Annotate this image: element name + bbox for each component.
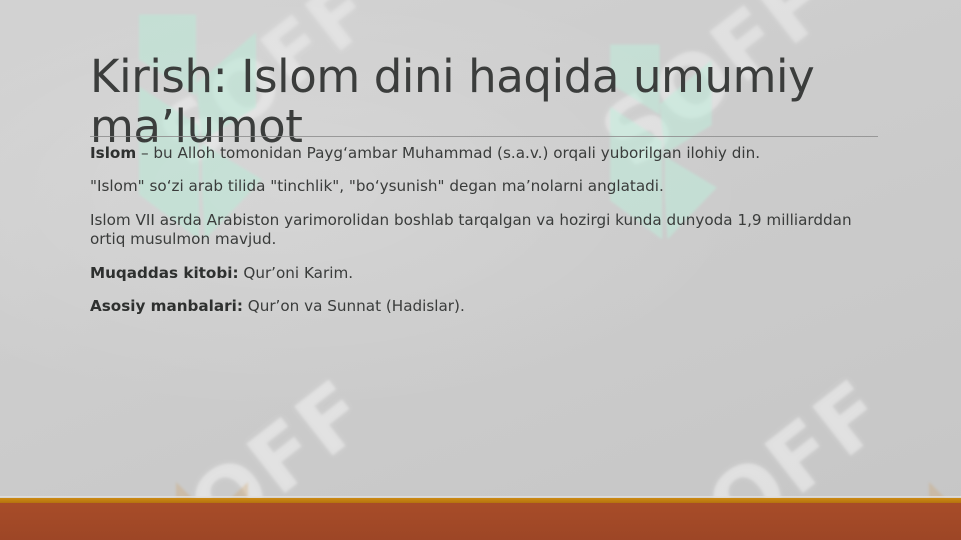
bottom-accent-bar xyxy=(0,498,961,540)
slide-body: Islom – bu Alloh tomonidan Payg‘ambar Mu… xyxy=(90,144,880,317)
paragraph-text: Qur’on va Sunnat (Hadislar). xyxy=(243,297,465,315)
paragraph-text: Qur’oni Karim. xyxy=(239,264,354,282)
paragraph-lead: Muqaddas kitobi: xyxy=(90,264,239,282)
slide-title: Kirish: Islom dini haqida umumiy ma’lumo… xyxy=(90,52,890,152)
paragraph-text: Islom VII asrda Arabiston yarimorolidan … xyxy=(90,211,852,248)
paragraph-lead: Islom xyxy=(90,144,136,162)
paragraph-lead: Asosiy manbalari: xyxy=(90,297,243,315)
body-paragraph-definition: Islom – bu Alloh tomonidan Payg‘ambar Mu… xyxy=(90,144,880,163)
paragraph-text: "Islom" so‘zi arab tilida "tinchlik", "b… xyxy=(90,177,664,195)
body-paragraph-holy-book: Muqaddas kitobi: Qur’oni Karim. xyxy=(90,264,880,283)
body-paragraph-history: Islom VII asrda Arabiston yarimorolidan … xyxy=(90,211,880,250)
bottom-accent-stripe xyxy=(0,498,961,503)
slide-canvas: SOFF SOFF SOFF SOFF xyxy=(0,0,961,540)
paragraph-text: – bu Alloh tomonidan Payg‘ambar Muhammad… xyxy=(136,144,760,162)
body-paragraph-meaning: "Islom" so‘zi arab tilida "tinchlik", "b… xyxy=(90,177,880,196)
body-paragraph-sources: Asosiy manbalari: Qur’on va Sunnat (Hadi… xyxy=(90,297,880,316)
title-divider xyxy=(90,136,878,137)
